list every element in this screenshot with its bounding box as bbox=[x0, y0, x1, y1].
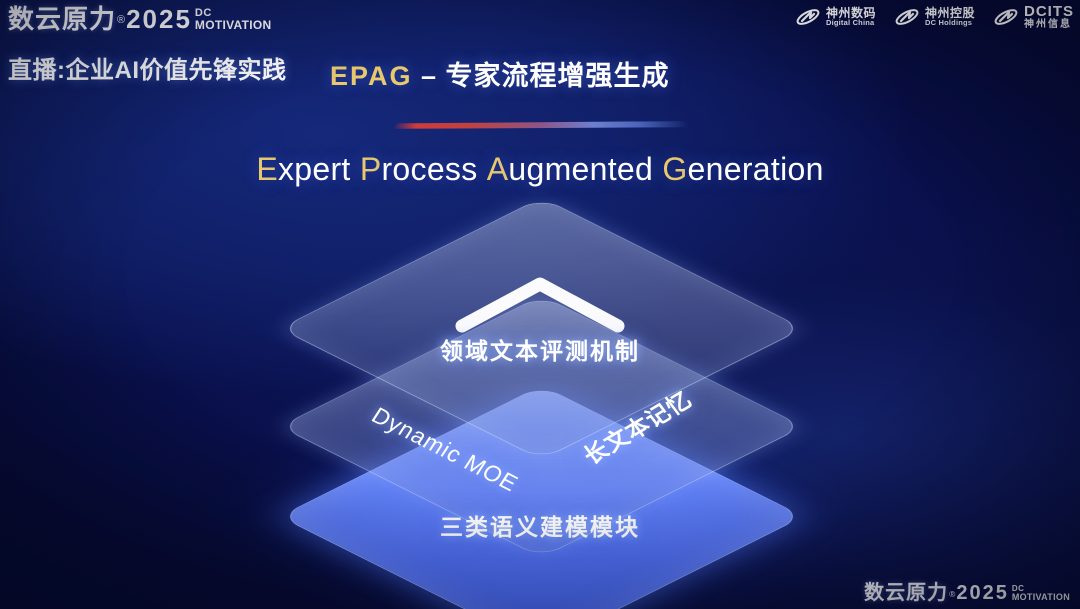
gradient-divider bbox=[392, 121, 688, 129]
title-subtitle-cn: 专家流程增强生成 bbox=[446, 61, 670, 91]
title-separator: – bbox=[413, 61, 446, 91]
corporate-name-en: DCITS bbox=[1024, 4, 1074, 20]
subtitle-space bbox=[653, 151, 662, 187]
subtitle-word-process: rocess bbox=[381, 151, 477, 187]
brand-name-cn: 数云原力 bbox=[864, 583, 948, 603]
subtitle-space bbox=[351, 151, 360, 187]
corporate-logo-digital-china: 神州数码 Digital China bbox=[795, 6, 876, 28]
swirl-logo-icon bbox=[894, 6, 920, 28]
subtitle-word-augmented: ugmented bbox=[508, 151, 653, 187]
brand-year: 2025 bbox=[956, 583, 1009, 603]
layered-architecture-diagram bbox=[270, 228, 810, 588]
brand-motivation-label: MOTIVATION bbox=[1012, 593, 1070, 602]
corporate-logo-text: 神州控股 DC Holdings bbox=[925, 7, 975, 27]
subtitle-initial-p: P bbox=[360, 151, 382, 187]
corporate-logo-group: 神州数码 Digital China 神州控股 DC Holdings DCIT… bbox=[795, 4, 1074, 30]
subtitle-word-expert: xpert bbox=[278, 151, 351, 187]
corporate-logo-text: 神州数码 Digital China bbox=[826, 7, 876, 27]
brand-name-cn: 数云原力 bbox=[8, 6, 116, 32]
subtitle-word-generation: eneration bbox=[688, 151, 824, 187]
corporate-logo-dcits: DCITS 神州信息 bbox=[993, 4, 1074, 30]
corporate-name-en: Digital China bbox=[826, 19, 876, 27]
event-brand-logo: 数云原力 ® 2025 DC MOTIVATION bbox=[8, 6, 271, 32]
page-title: EPAG – 专家流程增强生成 bbox=[330, 54, 670, 93]
watermark-brand-logo: 数云原力 ® 2025 DC MOTIVATION bbox=[864, 583, 1070, 603]
title-acronym: EPAG bbox=[330, 61, 413, 91]
brand-motivation-label: MOTIVATION bbox=[195, 19, 272, 31]
brand-tagline: DC MOTIVATION bbox=[1012, 585, 1070, 602]
presentation-slide: 数云原力 ® 2025 DC MOTIVATION 直播:企业AI价值先锋实践 … bbox=[0, 0, 1080, 609]
brand-tagline: DC MOTIVATION bbox=[195, 8, 272, 31]
registered-trademark-icon: ® bbox=[117, 15, 125, 26]
subtitle-initial-e: E bbox=[256, 151, 278, 187]
corporate-logo-text: DCITS 神州信息 bbox=[1024, 4, 1074, 30]
swirl-logo-icon bbox=[795, 6, 821, 28]
subtitle-initial-g: G bbox=[662, 151, 687, 187]
registered-trademark-icon: ® bbox=[949, 590, 955, 598]
brand-year: 2025 bbox=[126, 6, 192, 32]
corporate-name-en: DC Holdings bbox=[925, 19, 975, 27]
subtitle-initial-a: A bbox=[487, 151, 509, 187]
subtitle-expansion: Expert Process Augmented Generation bbox=[0, 151, 1080, 188]
subtitle-space bbox=[478, 151, 487, 187]
corporate-logo-dc-holdings: 神州控股 DC Holdings bbox=[894, 6, 975, 28]
corporate-name-cn: 神州信息 bbox=[1024, 20, 1074, 31]
live-stream-banner: 直播:企业AI价值先锋实践 bbox=[8, 50, 287, 85]
swirl-logo-icon bbox=[993, 6, 1019, 28]
